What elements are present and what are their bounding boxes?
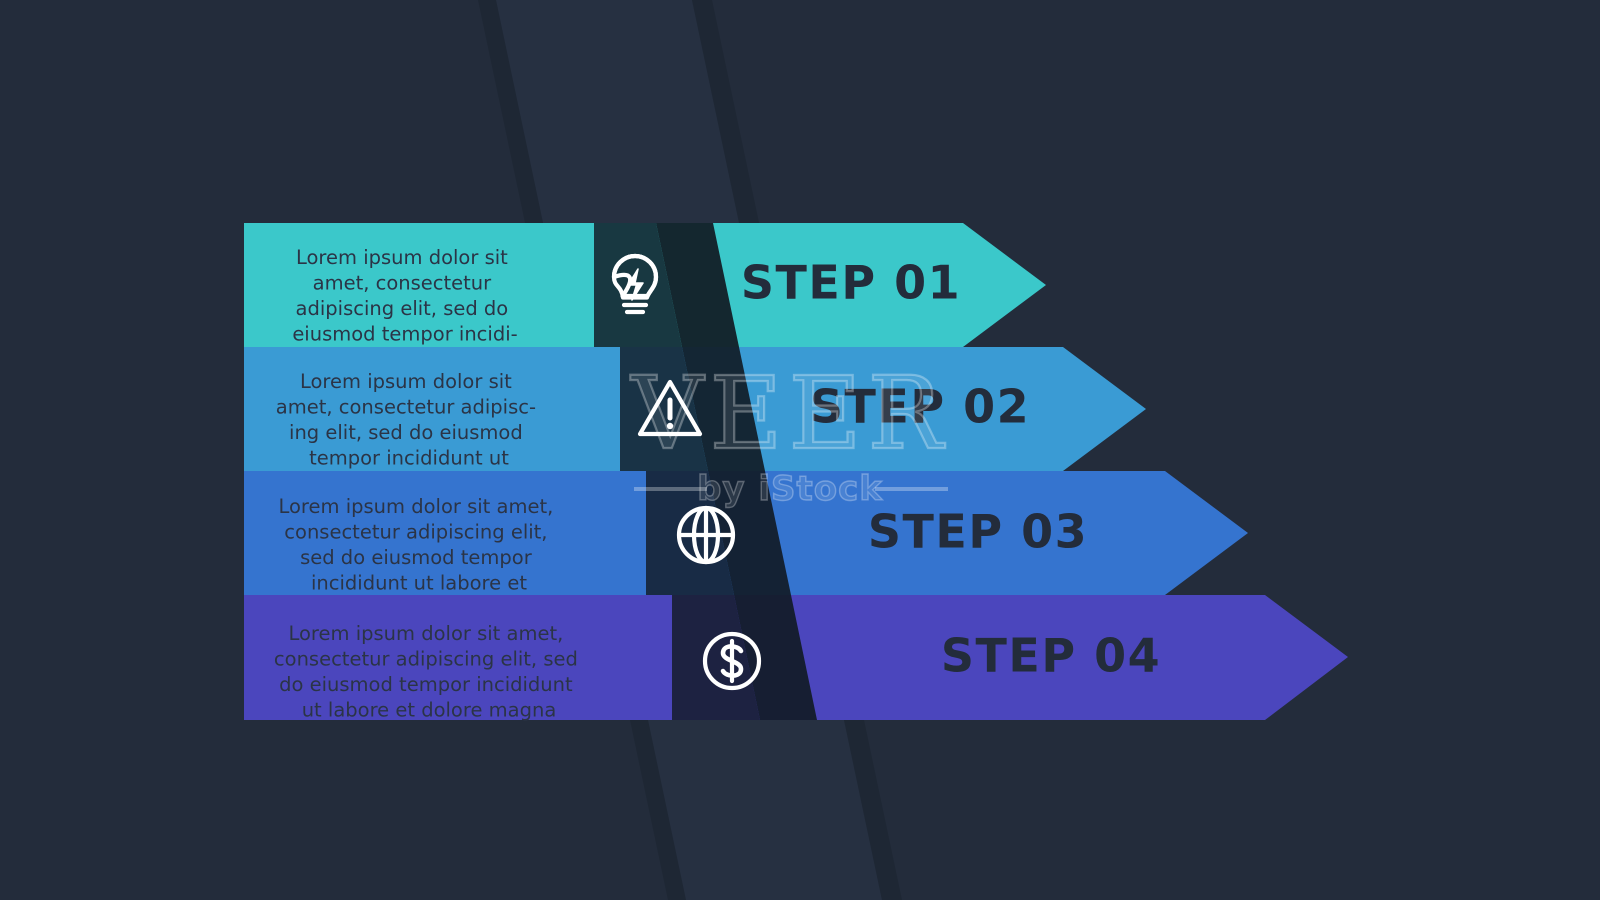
step-2-title: STEP 02 xyxy=(810,380,1030,434)
step-row-3[interactable]: Lorem ipsum dolor sit amet, consectetur … xyxy=(244,471,1248,595)
step-row-1[interactable]: Lorem ipsum dolor sit amet, consectetur … xyxy=(244,223,1046,347)
globe-icon xyxy=(679,508,733,562)
step-row-4[interactable]: Lorem ipsum dolor sit amet, consectetur … xyxy=(244,595,1348,722)
step-3-title: STEP 03 xyxy=(868,505,1088,559)
steps-layer: Lorem ipsum dolor sit amet, consectetur … xyxy=(0,0,1600,900)
infographic-canvas: Lorem ipsum dolor sit amet, consectetur … xyxy=(0,0,1600,900)
step-4-title: STEP 04 xyxy=(941,629,1161,683)
step-row-2[interactable]: Lorem ipsum dolor sit amet, consectetur … xyxy=(244,347,1146,471)
step-1-title: STEP 01 xyxy=(741,256,961,310)
